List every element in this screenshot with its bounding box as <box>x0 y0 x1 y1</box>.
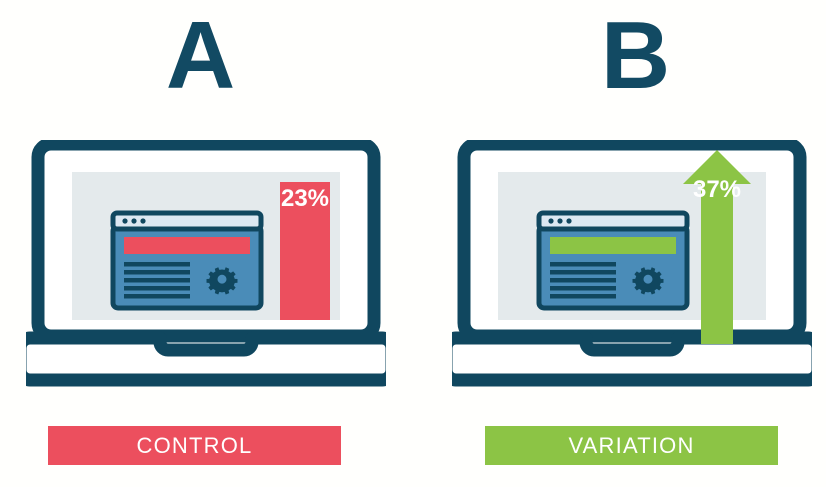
browser-banner-b <box>550 237 676 254</box>
screen-content-a: 23% <box>72 172 340 320</box>
browser-text-line <box>550 262 616 267</box>
window-dot-icon <box>548 218 553 223</box>
ab-test-illustration: A 23% <box>0 0 826 487</box>
browser-text-line <box>550 278 616 283</box>
label-text-variation: VARIATION <box>568 433 694 459</box>
variant-b-letter: B <box>585 8 685 104</box>
browser-text-line <box>124 286 190 291</box>
browser-banner-a <box>124 237 250 254</box>
window-dot-icon <box>131 218 136 223</box>
window-dot-icon <box>140 218 145 223</box>
screen-content-b: 37% <box>498 172 766 320</box>
laptop-variant-a: 23% <box>26 140 386 398</box>
label-bar-control[interactable]: CONTROL <box>48 426 341 465</box>
metric-value-b: 37% <box>683 176 751 204</box>
laptop-base-b <box>452 338 812 380</box>
browser-text-line <box>124 270 190 275</box>
window-dot-icon <box>557 218 562 223</box>
window-dot-icon <box>122 218 127 223</box>
browser-window-b <box>536 210 690 311</box>
metric-bar-a: 23% <box>280 182 330 320</box>
label-text-control: CONTROL <box>137 433 253 459</box>
browser-text-line <box>124 278 190 283</box>
browser-text-line <box>550 294 616 299</box>
browser-text-line <box>550 270 616 275</box>
laptop-base-a <box>26 338 386 380</box>
browser-text-line <box>124 262 190 267</box>
variant-a-letter: A <box>150 8 250 104</box>
laptop-variant-b: 37% <box>452 140 812 398</box>
metric-arrow-b: 37% <box>683 150 751 344</box>
browser-window-a <box>110 210 264 311</box>
metric-value-a: 23% <box>280 185 330 213</box>
browser-text-line <box>550 286 616 291</box>
window-dot-icon <box>566 218 571 223</box>
label-bar-variation[interactable]: VARIATION <box>485 426 778 465</box>
browser-text-line <box>124 294 190 299</box>
